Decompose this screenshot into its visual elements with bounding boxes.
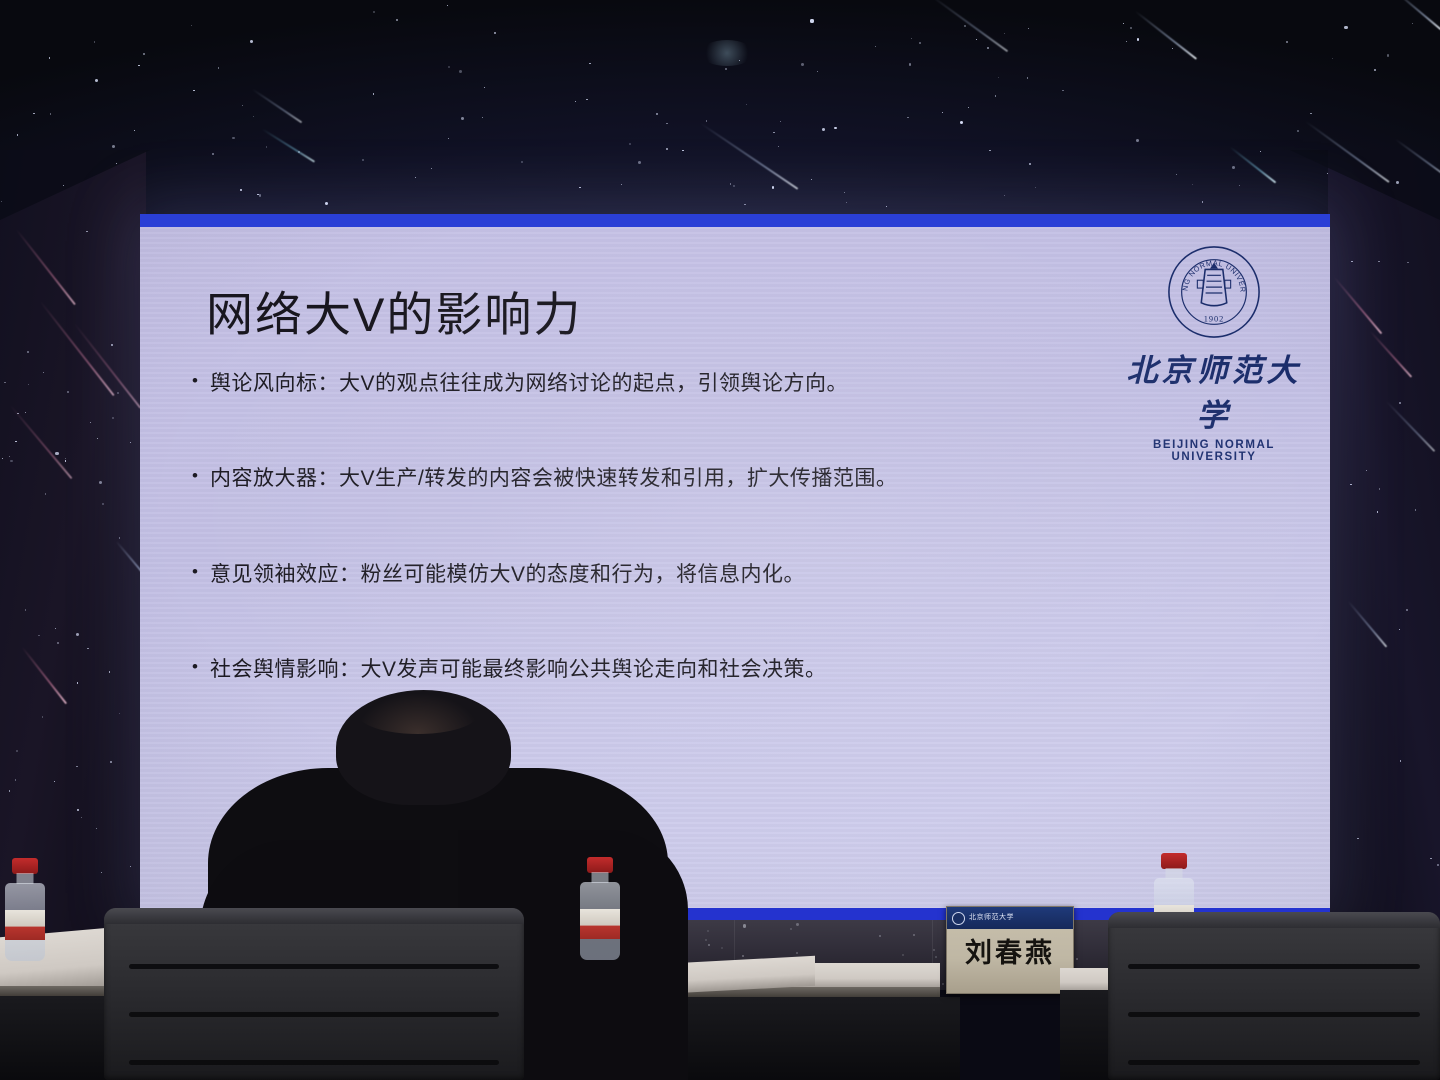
wall-speckle [708,944,710,946]
wall-speckle [913,934,915,936]
person-hair-highlight [358,694,478,734]
desk-nameplate: 北京师范大学 刘春燕 [946,906,1074,994]
ceiling-starfield [0,0,1440,218]
bottle-cap [587,857,613,873]
slide-title: 网络大V的影响力 [206,290,582,339]
ceiling-bevel-left [0,150,150,220]
bnu-seal-icon: BEIJING NORMAL UNIVERSITY 1902 [1165,243,1263,341]
nameplate-logo-labels: 北京师范大学 [969,914,1014,922]
bullet-text: 舆论风向标：大V的观点往往成为网络讨论的起点，引领舆论方向。 [210,369,848,398]
wall-speckle [902,954,904,956]
wall-speckle [796,952,798,954]
chair-slat [129,1012,499,1017]
chair-top-rail [104,908,524,924]
wall-speckle [721,947,723,949]
university-logo: BEIJING NORMAL UNIVERSITY 1902 北京师范大学 BE… [1114,243,1314,463]
wall-speckle [790,928,792,930]
chair-slat [129,964,499,969]
chair-right [1108,912,1440,1080]
bullet-item: • 意见领袖效应：粉丝可能模仿大V的态度和行为，将信息内化。 [192,560,1290,589]
chair-slat [1128,1012,1420,1017]
bullet-text: 社会舆情影响：大V发声可能最终影响公共舆论走向和社会决策。 [210,655,827,684]
nameplate-logo-header: 北京师范大学 [947,907,1073,929]
wall-speckle [879,935,881,937]
wall-speckle [705,939,707,941]
chair-left [104,908,524,1080]
bullet-marker-icon: • [192,464,210,488]
bullet-item: • 社会舆情影响：大V发声可能最终影响公共舆论走向和社会决策。 [192,655,1290,684]
wall-speckle [935,956,937,958]
ceiling-bevel-right [1290,150,1440,220]
bullet-marker-icon: • [192,560,210,584]
water-bottle-center [578,857,622,967]
university-name-en: BEIJING NORMAL UNIVERSITY [1114,439,1314,463]
seal-year-text: 1902 [1204,314,1225,323]
chair-top-rail [1108,912,1440,928]
chair-slat [1128,964,1420,969]
bullet-text: 内容放大器：大V生产/转发的内容会被快速转发和引用，扩大传播范围。 [210,464,897,493]
lecture-hall-photo: 网络大V的影响力 • 舆论风向标：大V的观点往往成为网络讨论的起点，引领舆论方向… [0,0,1440,1080]
wall-speckle [796,923,799,926]
water-bottle-left [3,858,47,968]
bnu-seal-icon-small [952,912,965,925]
bottle-label [5,910,45,940]
bullet-text: 意见领袖效应：粉丝可能模仿大V的态度和行为，将信息内化。 [210,560,805,589]
wall-speckle [707,930,709,932]
wall-speckle [743,924,746,927]
chair-slat [129,1060,499,1065]
bullet-item: • 内容放大器：大V生产/转发的内容会被快速转发和引用，扩大传播范围。 [192,464,1290,493]
wall-speckle [942,983,944,985]
chair-slat [1128,1060,1420,1065]
university-name-cn: 北京师范大学 [1114,345,1314,435]
svg-text:BEIJING NORMAL UNIVERSITY: BEIJING NORMAL UNIVERSITY [1165,243,1248,293]
bullet-marker-icon: • [192,369,210,393]
wall-speckle [1076,958,1078,960]
slide-top-accent-bar [140,214,1330,227]
nameplate-person-name: 刘春燕 [947,931,1073,970]
bottle-cap [1161,853,1187,869]
wall-speckle [742,955,744,957]
bottle-cap [12,858,38,874]
nameplate-logo-cn: 北京师范大学 [969,914,1014,922]
bottle-label [580,909,620,939]
bullet-marker-icon: • [192,655,210,679]
